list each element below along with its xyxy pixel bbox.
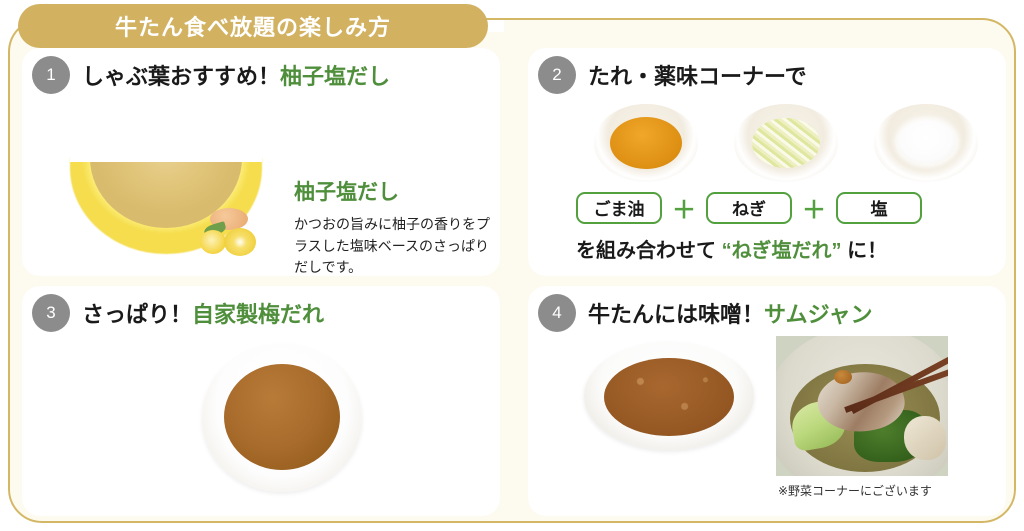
step-badge-4: 4 bbox=[538, 294, 576, 332]
section-1-heading-text: しゃぶ葉おすすめ！柚子塩だし bbox=[82, 59, 390, 91]
yuzu-broth-image bbox=[70, 152, 262, 254]
green-onion-fill bbox=[752, 118, 820, 168]
bowl-green-onion bbox=[734, 104, 838, 182]
section-card-1: 1 しゃぶ葉おすすめ！柚子塩だし 柚子塩だし かつおの旨みに柚子の香りをプラスし… bbox=[22, 48, 500, 276]
samjang-fill bbox=[604, 358, 734, 436]
lemon-slice-icon bbox=[224, 228, 256, 256]
vegetable-corner-note: ※野菜コーナーにございます bbox=[778, 482, 932, 499]
salt-fill bbox=[898, 120, 956, 164]
section-2-heading-black: たれ・薬味コーナーで bbox=[588, 64, 807, 89]
section-1-heading-green: 柚子塩だし bbox=[280, 64, 390, 89]
section-4-heading-black: 牛たんには味噌！ bbox=[588, 302, 764, 327]
section-2-heading: 2 たれ・薬味コーナーで bbox=[538, 56, 807, 94]
bowl-sesame-oil bbox=[594, 104, 698, 182]
condiment-bowls bbox=[594, 104, 978, 182]
step-badge-2: 2 bbox=[538, 56, 576, 94]
plus-icon-1: ＋ bbox=[672, 190, 696, 225]
section-1-description: かつおの旨みに柚子の香りをプラスした塩味ベースのさっぱりだしです。 bbox=[294, 214, 494, 279]
combine-prefix: を組み合わせて bbox=[576, 240, 722, 262]
combine-suffix: に！ bbox=[842, 240, 888, 262]
yuzu-garnish bbox=[198, 208, 266, 256]
step-badge-1: 1 bbox=[32, 56, 70, 94]
plum-sauce-image bbox=[202, 344, 362, 494]
beef-tongue-photo bbox=[776, 336, 948, 476]
photo-mushroom bbox=[904, 416, 946, 460]
section-1-subtitle: 柚子塩だし bbox=[294, 176, 494, 206]
section-4-heading-text: 牛たんには味噌！サムジャン bbox=[588, 297, 872, 329]
section-card-3: 3 さっぱり！自家製梅だれ bbox=[22, 286, 500, 516]
section-1-heading: 1 しゃぶ葉おすすめ！柚子塩だし bbox=[32, 56, 390, 94]
lemon-wedge-icon bbox=[200, 230, 226, 254]
poster-root: 牛たん食べ放題の楽しみ方 1 しゃぶ葉おすすめ！柚子塩だし 柚子塩だし かつおの… bbox=[0, 0, 1024, 531]
section-3-heading: 3 さっぱり！自家製梅だれ bbox=[32, 294, 324, 332]
combine-caption: を組み合わせて “ねぎ塩だれ” に！ bbox=[576, 234, 887, 263]
plus-icon-2: ＋ bbox=[802, 190, 826, 225]
section-2-heading-text: たれ・薬味コーナーで bbox=[588, 59, 807, 91]
page-title: 牛たん食べ放題の楽しみ方 bbox=[115, 10, 391, 42]
photo-sauce-dab bbox=[834, 370, 852, 384]
section-4-heading-green: サムジャン bbox=[764, 302, 872, 327]
chip-green-onion: ねぎ bbox=[706, 192, 792, 224]
step-badge-3: 3 bbox=[32, 294, 70, 332]
section-1-heading-black: しゃぶ葉おすすめ！ bbox=[82, 64, 280, 89]
sesame-oil-fill bbox=[610, 117, 682, 169]
bowl-salt bbox=[874, 104, 978, 182]
plum-sauce-fill bbox=[224, 364, 340, 470]
section-card-2: 2 たれ・薬味コーナーで ごま油 ＋ ねぎ ＋ 塩 bbox=[528, 48, 1006, 276]
section-4-heading: 4 牛たんには味噌！サムジャン bbox=[538, 294, 872, 332]
chip-salt: 塩 bbox=[836, 192, 922, 224]
section-card-4: 4 牛たんには味噌！サムジャン ※野菜コーナーにございます bbox=[528, 286, 1006, 516]
section-1-text-block: 柚子塩だし かつおの旨みに柚子の香りをプラスした塩味ベースのさっぱりだしです。 bbox=[294, 176, 494, 279]
samjang-image bbox=[584, 342, 754, 454]
section-3-heading-green: 自家製梅だれ bbox=[192, 302, 324, 327]
yuzu-top-mask bbox=[70, 152, 262, 162]
combine-highlight: “ねぎ塩だれ” bbox=[722, 240, 842, 262]
section-3-heading-black: さっぱり！ bbox=[82, 302, 192, 327]
chip-sesame-oil: ごま油 bbox=[576, 192, 662, 224]
ingredient-chip-row: ごま油 ＋ ねぎ ＋ 塩 bbox=[576, 190, 922, 225]
section-3-heading-text: さっぱり！自家製梅だれ bbox=[82, 297, 324, 329]
title-banner: 牛たん食べ放題の楽しみ方 bbox=[18, 4, 488, 48]
